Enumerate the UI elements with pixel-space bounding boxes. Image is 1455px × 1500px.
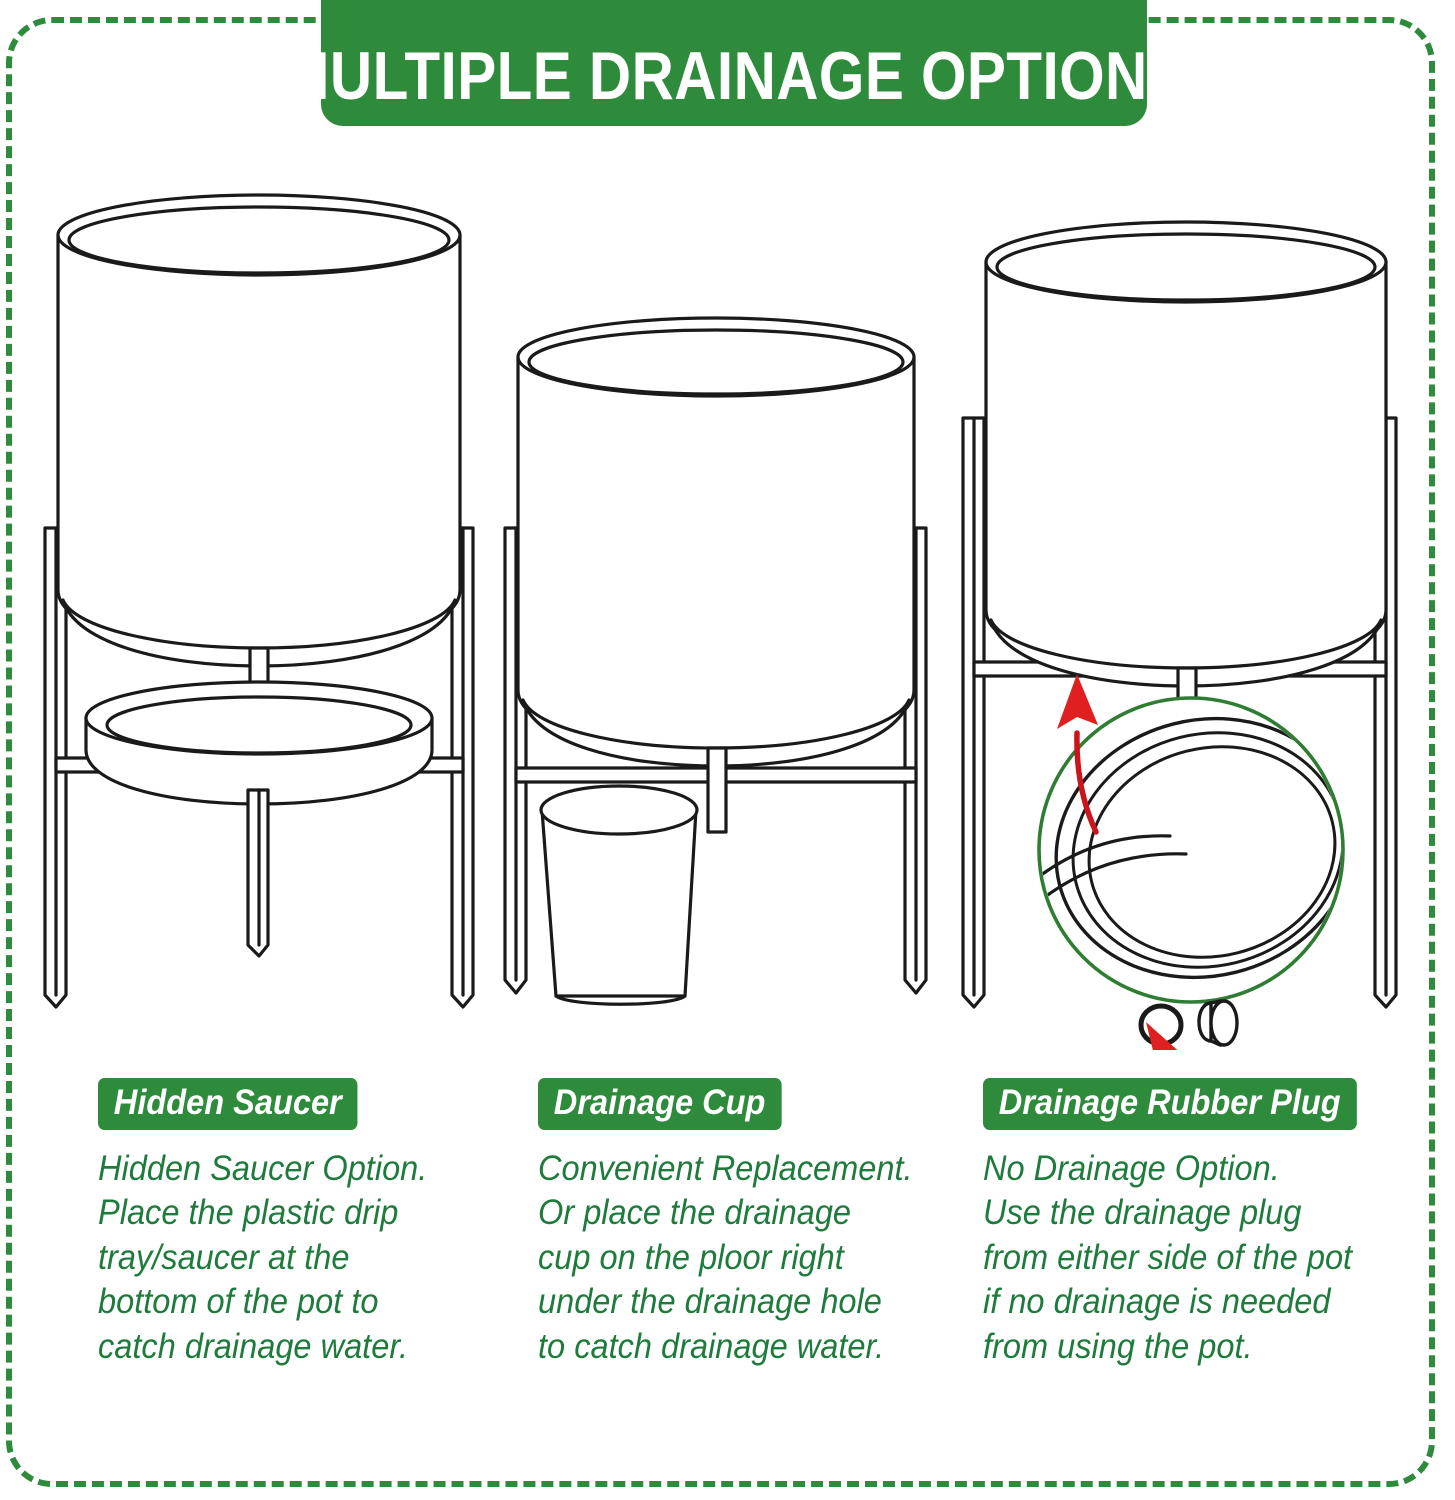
caption-column-hidden-saucer: Hidden Saucer Hidden Saucer Option. Plac… (98, 1078, 528, 1369)
planter-pot (518, 318, 914, 766)
illustration-rubber-plug (963, 222, 1396, 1050)
illustration-hidden-saucer (45, 195, 473, 1007)
caption-pill-drainage-cup: Drainage Cup (538, 1078, 781, 1130)
illustration-drainage-cup (505, 318, 926, 1004)
caption-body-rubber-plug: No Drainage Option. Use the drainage plu… (983, 1147, 1383, 1369)
caption-column-drainage-cup: Drainage Cup Convenient Replacement. Or … (538, 1078, 968, 1369)
caption-body-drainage-cup: Convenient Replacement. Or place the dra… (538, 1147, 938, 1369)
front-leg (248, 790, 268, 956)
saucer-tray (86, 682, 432, 804)
drain-stem (708, 748, 726, 832)
caption-pill-hidden-saucer: Hidden Saucer (98, 1078, 358, 1130)
pot-underside-detail (1028, 688, 1381, 1009)
page-title: MULTIPLE DRAINAGE OPTIONS (281, 42, 1187, 110)
caption-pill-rubber-plug: Drainage Rubber Plug (983, 1078, 1356, 1130)
captions-area: Hidden Saucer Hidden Saucer Option. Plac… (0, 1078, 1455, 1478)
rubber-plug (1199, 1001, 1237, 1045)
caption-body-hidden-saucer: Hidden Saucer Option. Place the plastic … (98, 1147, 498, 1369)
illustrations-svg (0, 150, 1455, 1050)
caption-column-rubber-plug: Drainage Rubber Plug No Drainage Option.… (983, 1078, 1413, 1369)
drainage-cup (541, 786, 697, 1004)
planter-pot (986, 222, 1386, 686)
title-banner: MULTIPLE DRAINAGE OPTIONS (321, 0, 1147, 126)
illustrations-area (0, 150, 1455, 1050)
infographic-root: MULTIPLE DRAINAGE OPTIONS (0, 0, 1455, 1500)
planter-pot (58, 195, 460, 666)
